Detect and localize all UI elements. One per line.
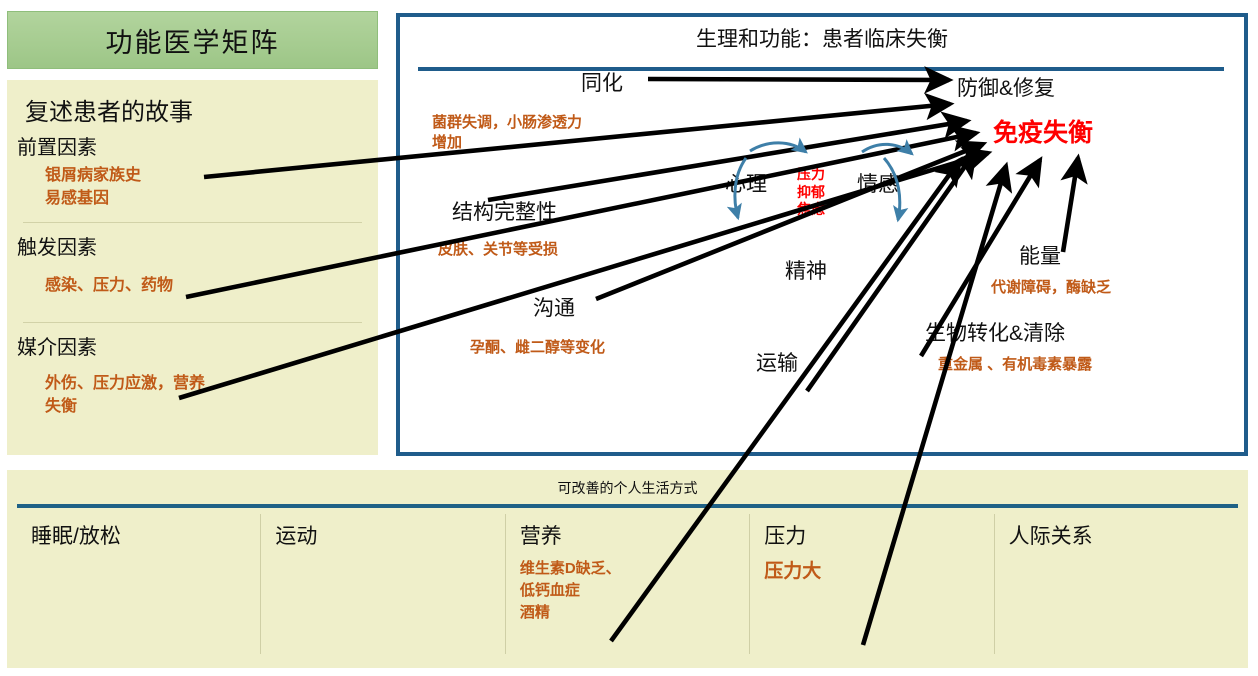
mediators-heading: 媒介因素 <box>7 329 378 360</box>
physiology-function-box: 生理和功能：患者临床失衡 <box>396 13 1248 456</box>
physiology-title: 生理和功能：患者临床失衡 <box>400 23 1244 53</box>
lifestyle-columns: 睡眠/放松 运动 营养 维生素D缺乏、 低钙血症 酒精 压力 压力大 人际关系 <box>17 514 1238 654</box>
node-emotional-label: 情感 <box>857 168 899 198</box>
antecedents-section: 前置因素 银屑病家族史 易感基因 <box>7 129 378 210</box>
node-spiritual-label: 精神 <box>785 255 827 285</box>
lifestyle-column-nutrition[interactable]: 营养 维生素D缺乏、 低钙血症 酒精 <box>505 514 749 654</box>
lifestyle-body-stress: 压力大 <box>764 558 993 586</box>
lifestyle-heading-relationships: 人际关系 <box>1009 520 1238 550</box>
node-structural-label: 结构完整性 <box>452 196 557 226</box>
lifestyle-panel: 可改善的个人生活方式 睡眠/放松 运动 营养 维生素D缺乏、 低钙血症 酒精 压… <box>7 470 1248 668</box>
retell-story-title: 复述患者的故事 <box>7 80 378 129</box>
lifestyle-caption: 可改善的个人生活方式 <box>7 478 1248 498</box>
antecedents-heading: 前置因素 <box>7 129 378 160</box>
matrix-header-title: 功能医学矩阵 <box>106 21 280 60</box>
node-structural-sub: 皮肤、关节等受损 <box>438 240 558 260</box>
lifestyle-underline <box>17 504 1238 508</box>
physiology-title-underline <box>418 67 1224 71</box>
mediators-body: 外伤、压力应激，营养 失衡 <box>7 360 378 418</box>
matrix-header-banner: 功能医学矩阵 <box>7 11 378 69</box>
lifestyle-column-exercise[interactable]: 运动 <box>260 514 504 654</box>
lifestyle-heading-sleep: 睡眠/放松 <box>31 520 260 550</box>
node-energy-label: 能量 <box>1019 240 1061 270</box>
retell-story-panel: 复述患者的故事 前置因素 银屑病家族史 易感基因 触发因素 感染、压力、药物 媒… <box>7 80 378 455</box>
node-energy-sub: 代谢障碍，酶缺乏 <box>991 278 1111 298</box>
node-assimilation-label: 同化 <box>581 67 623 97</box>
section-divider-2 <box>23 322 362 323</box>
node-communication-sub: 孕酮、雌二醇等变化 <box>470 338 605 358</box>
lifestyle-column-relationships[interactable]: 人际关系 <box>994 514 1238 654</box>
lifestyle-column-stress[interactable]: 压力 压力大 <box>749 514 993 654</box>
antecedents-body: 银屑病家族史 易感基因 <box>7 160 378 210</box>
lifestyle-body-nutrition: 维生素D缺乏、 低钙血症 酒精 <box>520 558 749 623</box>
triggers-section: 触发因素 感染、压力、药物 <box>7 229 378 297</box>
node-biotransformation-label: 生物转化&清除 <box>925 317 1065 347</box>
node-transport-label: 运输 <box>756 347 798 377</box>
section-divider-1 <box>23 222 362 223</box>
lifestyle-heading-exercise: 运动 <box>275 520 504 550</box>
node-biotransformation-sub: 重金属 、有机毒素暴露 <box>938 355 1092 375</box>
outcome-defense-repair-label: 防御&修复 <box>957 72 1055 102</box>
node-psychological-label: 心理 <box>725 168 767 198</box>
lifestyle-column-sleep[interactable]: 睡眠/放松 <box>17 514 260 654</box>
outcome-immune-imbalance-label: 免疫失衡 <box>993 113 1093 149</box>
triggers-heading: 触发因素 <box>7 229 378 260</box>
lifestyle-heading-stress: 压力 <box>764 520 993 550</box>
triggers-body: 感染、压力、药物 <box>7 260 378 297</box>
node-communication-label: 沟通 <box>533 292 575 322</box>
mediators-section: 媒介因素 外伤、压力应激，营养 失衡 <box>7 329 378 418</box>
lifestyle-heading-nutrition: 营养 <box>520 520 749 550</box>
node-assimilation-sub: 菌群失调，小肠渗透力 增加 <box>432 113 582 152</box>
mental-stress-note: 压力 抑郁 焦虑 <box>797 166 825 219</box>
